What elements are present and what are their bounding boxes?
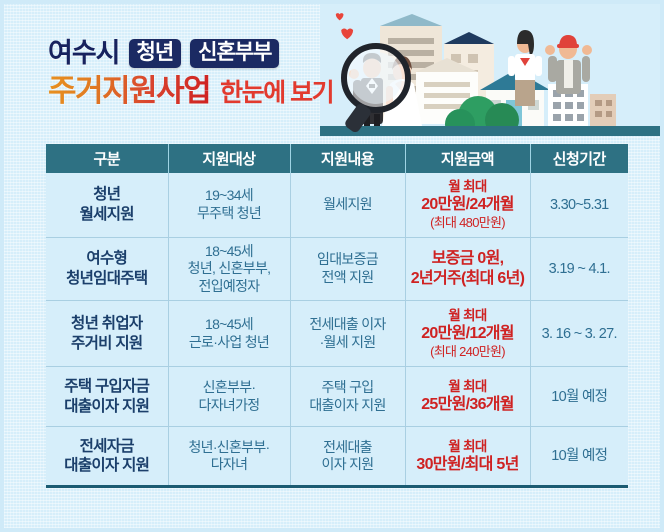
table-row: 주택 구입자금 대출이자 지원 신혼부부· 다자녀가정 주택 구입 대출이자 지… — [46, 367, 628, 427]
cell-target: 신혼부부· 다자녀가정 — [168, 367, 290, 427]
column-header-period: 신청기간 — [530, 144, 628, 173]
cell-period: 3. 16 ~ 3. 27. — [530, 301, 628, 367]
tagline: 한눈에 보기 — [220, 81, 333, 106]
column-header-amount: 지원금액 — [405, 144, 530, 173]
table-row: 전세자금 대출이자 지원 청년·신혼부부· 다자녀 전세대출 이자 지원 월 최… — [46, 427, 628, 487]
table-row: 여수형 청년임대주택 18~45세 청년, 신혼부부, 전입예정자 임대보증금 … — [46, 237, 628, 301]
cell-amount: 월 최대 20만원/24개월 (최대 480만원) — [405, 173, 530, 237]
cell-amount: 월 최대 25만원/36개월 — [405, 367, 530, 427]
magnifier-icon — [334, 40, 420, 132]
program-title: 주거지원사업 — [48, 75, 210, 106]
cell-target: 18~45세 근로·사업 청년 — [168, 301, 290, 367]
support-programs-table: 구분 지원대상 지원내용 지원금액 신청기간 청년 월세지원 19~34세 — [46, 144, 628, 488]
cell-content: 전세대출 이자 지원 — [290, 427, 405, 487]
cell-type: 청년 취업자 주거비 지원 — [46, 301, 168, 367]
city-name: 여수시 — [48, 40, 120, 67]
title-block: 여수시 청년 신혼부부 주거지원사업 한눈에 보기 — [48, 37, 333, 111]
column-header-target: 지원대상 — [168, 144, 290, 173]
table-header-row: 구분 지원대상 지원내용 지원금액 신청기간 — [46, 144, 628, 173]
cell-period: 10월 예정 — [530, 427, 628, 487]
poster-header: 여수시 청년 신혼부부 주거지원사업 한눈에 보기 — [4, 4, 660, 138]
title-line-secondary: 주거지원사업 한눈에 보기 — [48, 75, 333, 111]
column-header-type: 구분 — [46, 144, 168, 173]
column-header-content: 지원내용 — [290, 144, 405, 173]
cell-period: 3.30~5.31 — [530, 173, 628, 237]
cell-content: 월세지원 — [290, 173, 405, 237]
cell-target: 청년·신혼부부· 다자녀 — [168, 427, 290, 487]
cell-type: 전세자금 대출이자 지원 — [46, 427, 168, 487]
cell-amount: 월 최대 30만원/최대 5년 — [405, 427, 530, 487]
cell-period: 3.19 ~ 4.1. — [530, 237, 628, 301]
cell-type: 청년 월세지원 — [46, 173, 168, 237]
poster: 여수시 청년 신혼부부 주거지원사업 한눈에 보기 — [0, 0, 664, 532]
cell-type: 여수형 청년임대주택 — [46, 237, 168, 301]
table-row: 청년 월세지원 19~34세 무주택 청년 월세지원 월 최대 20만원/24개… — [46, 173, 628, 237]
cell-content: 주택 구입 대출이자 지원 — [290, 367, 405, 427]
cell-amount: 월 최대 20만원/12개월 (최대 240만원) — [405, 301, 530, 367]
cell-content: 전세대출 이자 ·월세 지원 — [290, 301, 405, 367]
cell-period: 10월 예정 — [530, 367, 628, 427]
title-line-primary: 여수시 청년 신혼부부 — [48, 37, 333, 70]
cell-type: 주택 구입자금 대출이자 지원 — [46, 367, 168, 427]
badge-newlywed: 신혼부부 — [190, 39, 279, 68]
cell-target: 18~45세 청년, 신혼부부, 전입예정자 — [168, 237, 290, 301]
cell-target: 19~34세 무주택 청년 — [168, 173, 290, 237]
cell-amount: 보증금 0원, 2년거주(최대 6년) — [405, 237, 530, 301]
table-row: 청년 취업자 주거비 지원 18~45세 근로·사업 청년 전세대출 이자 ·월… — [46, 301, 628, 367]
badge-youth: 청년 — [129, 39, 182, 68]
cell-content: 임대보증금 전액 지원 — [290, 237, 405, 301]
